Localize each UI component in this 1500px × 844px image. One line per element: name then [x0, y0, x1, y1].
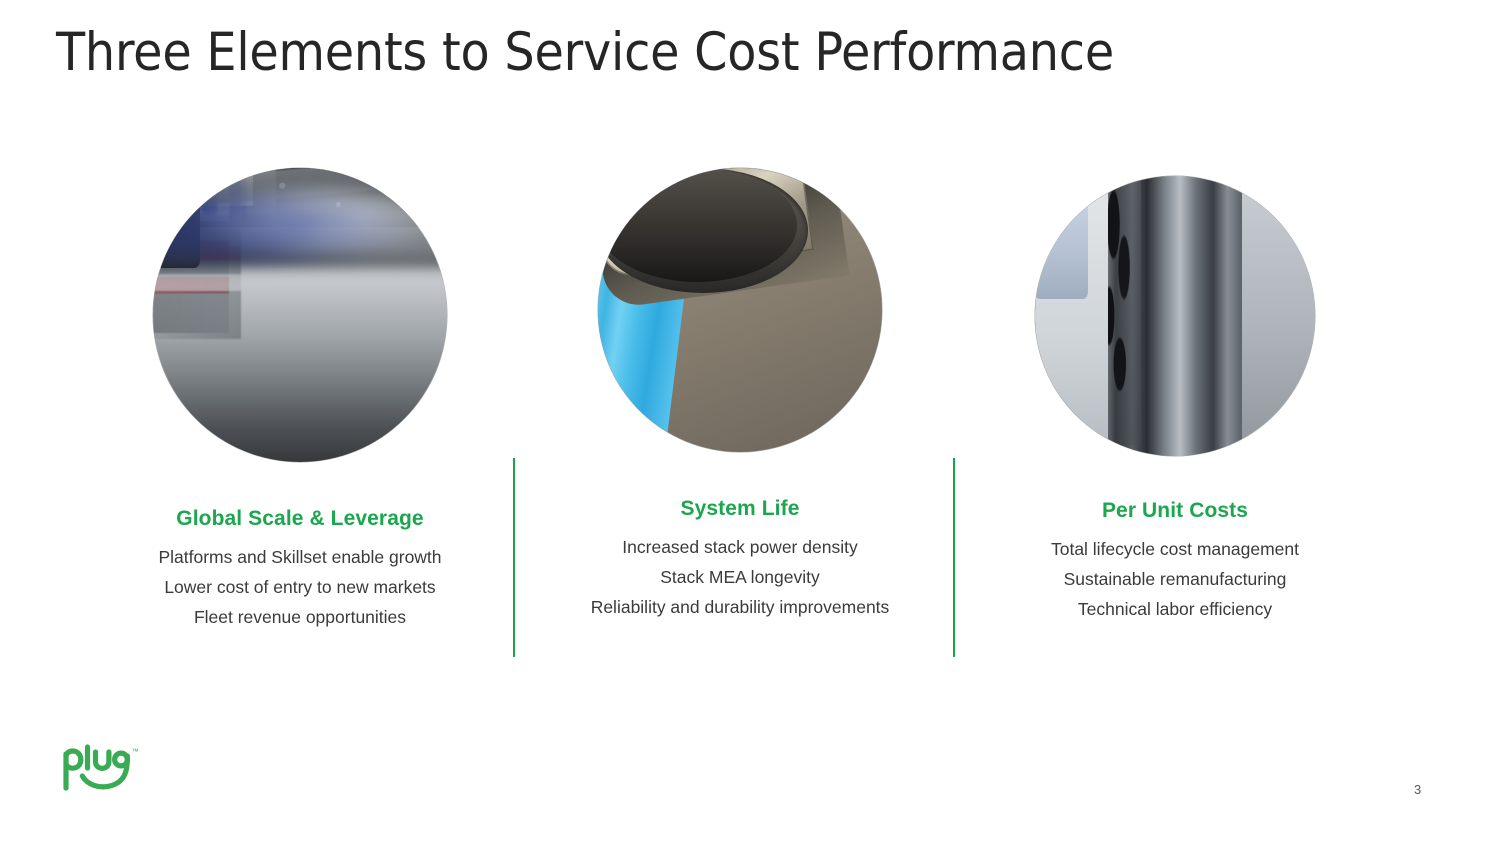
column-line: Stack MEA longevity [550, 562, 930, 592]
column-line: Technical labor efficiency [992, 594, 1358, 624]
column-line: Sustainable remanufacturing [992, 564, 1358, 594]
column-heading: Global Scale & Leverage [110, 506, 490, 532]
plug-logo: ™ [62, 744, 144, 792]
column-heading: System Life [550, 496, 930, 522]
column-lines: Increased stack power density Stack MEA … [550, 532, 930, 622]
slide-canvas: Three Elements to Service Cost Performan… [0, 0, 1500, 844]
column-line: Lower cost of entry to new markets [110, 572, 490, 602]
photo-fuel-cell-stack-plates [598, 168, 882, 452]
column-divider-2 [953, 458, 955, 657]
column-heading: Per Unit Costs [992, 498, 1358, 524]
three-column-layout: Global Scale & Leverage Platforms and Sk… [0, 0, 1500, 844]
photo-warehouse-assembly [153, 168, 447, 462]
column-line: Total lifecycle cost management [992, 534, 1358, 564]
column-per-unit-costs: Per Unit Costs Total lifecycle cost mana… [992, 176, 1358, 624]
column-lines: Platforms and Skillset enable growth Low… [110, 542, 490, 632]
column-global-scale-leverage: Global Scale & Leverage Platforms and Sk… [110, 168, 490, 632]
photo-technician-equipment-rack [1035, 176, 1315, 456]
column-divider-1 [513, 458, 515, 657]
column-line: Increased stack power density [550, 532, 930, 562]
column-system-life: System Life Increased stack power densit… [550, 168, 930, 622]
page-number: 3 [1414, 782, 1421, 797]
column-line: Platforms and Skillset enable growth [110, 542, 490, 572]
column-lines: Total lifecycle cost management Sustaina… [992, 534, 1358, 624]
column-line: Reliability and durability improvements [550, 592, 930, 622]
column-line: Fleet revenue opportunities [110, 602, 490, 632]
svg-text:™: ™ [132, 749, 139, 756]
